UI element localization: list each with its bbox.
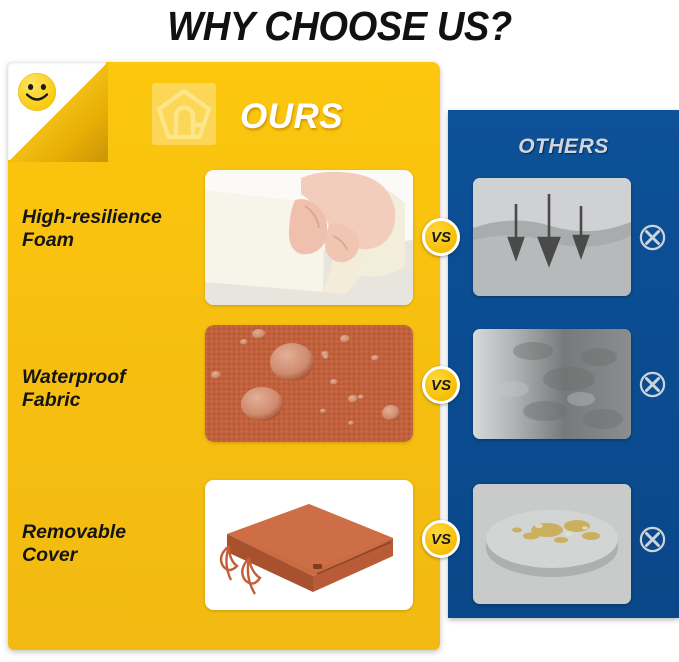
vs-badge-2: VS xyxy=(422,520,460,558)
ours-image-2 xyxy=(205,480,413,610)
feature-label-2-line1: Removable xyxy=(22,521,126,543)
vs-badge-1: VS xyxy=(422,366,460,404)
others-image-0 xyxy=(473,178,631,296)
feature-label-1-line2: Fabric xyxy=(22,389,81,411)
circled-x-icon-1 xyxy=(639,371,666,398)
others-label: OTHERS xyxy=(448,132,679,162)
feature-label-0-line1: High-resilience xyxy=(22,206,162,228)
others-image-1 xyxy=(473,329,631,439)
others-image-2 xyxy=(473,484,631,604)
feature-label-0-line2: Foam xyxy=(22,229,74,251)
circled-x-icon-0 xyxy=(639,224,666,251)
feature-label-1-line1: Waterproof xyxy=(22,366,126,388)
ours-label: OURS xyxy=(240,95,343,139)
feature-label-2: Removable Cover xyxy=(22,521,202,567)
vs-badge-0: VS xyxy=(422,218,460,256)
ours-image-1 xyxy=(205,325,413,442)
feature-label-0: High-resilience Foam xyxy=(22,206,202,252)
feature-label-1: Waterproof Fabric xyxy=(22,366,202,412)
ours-image-0 xyxy=(205,170,413,305)
feature-label-2-line2: Cover xyxy=(22,544,77,566)
house-arch-logo-icon xyxy=(152,83,216,145)
page-title: WHY CHOOSE US? xyxy=(24,0,655,52)
circled-x-icon-2 xyxy=(639,526,666,553)
smiley-face-icon xyxy=(17,72,57,112)
